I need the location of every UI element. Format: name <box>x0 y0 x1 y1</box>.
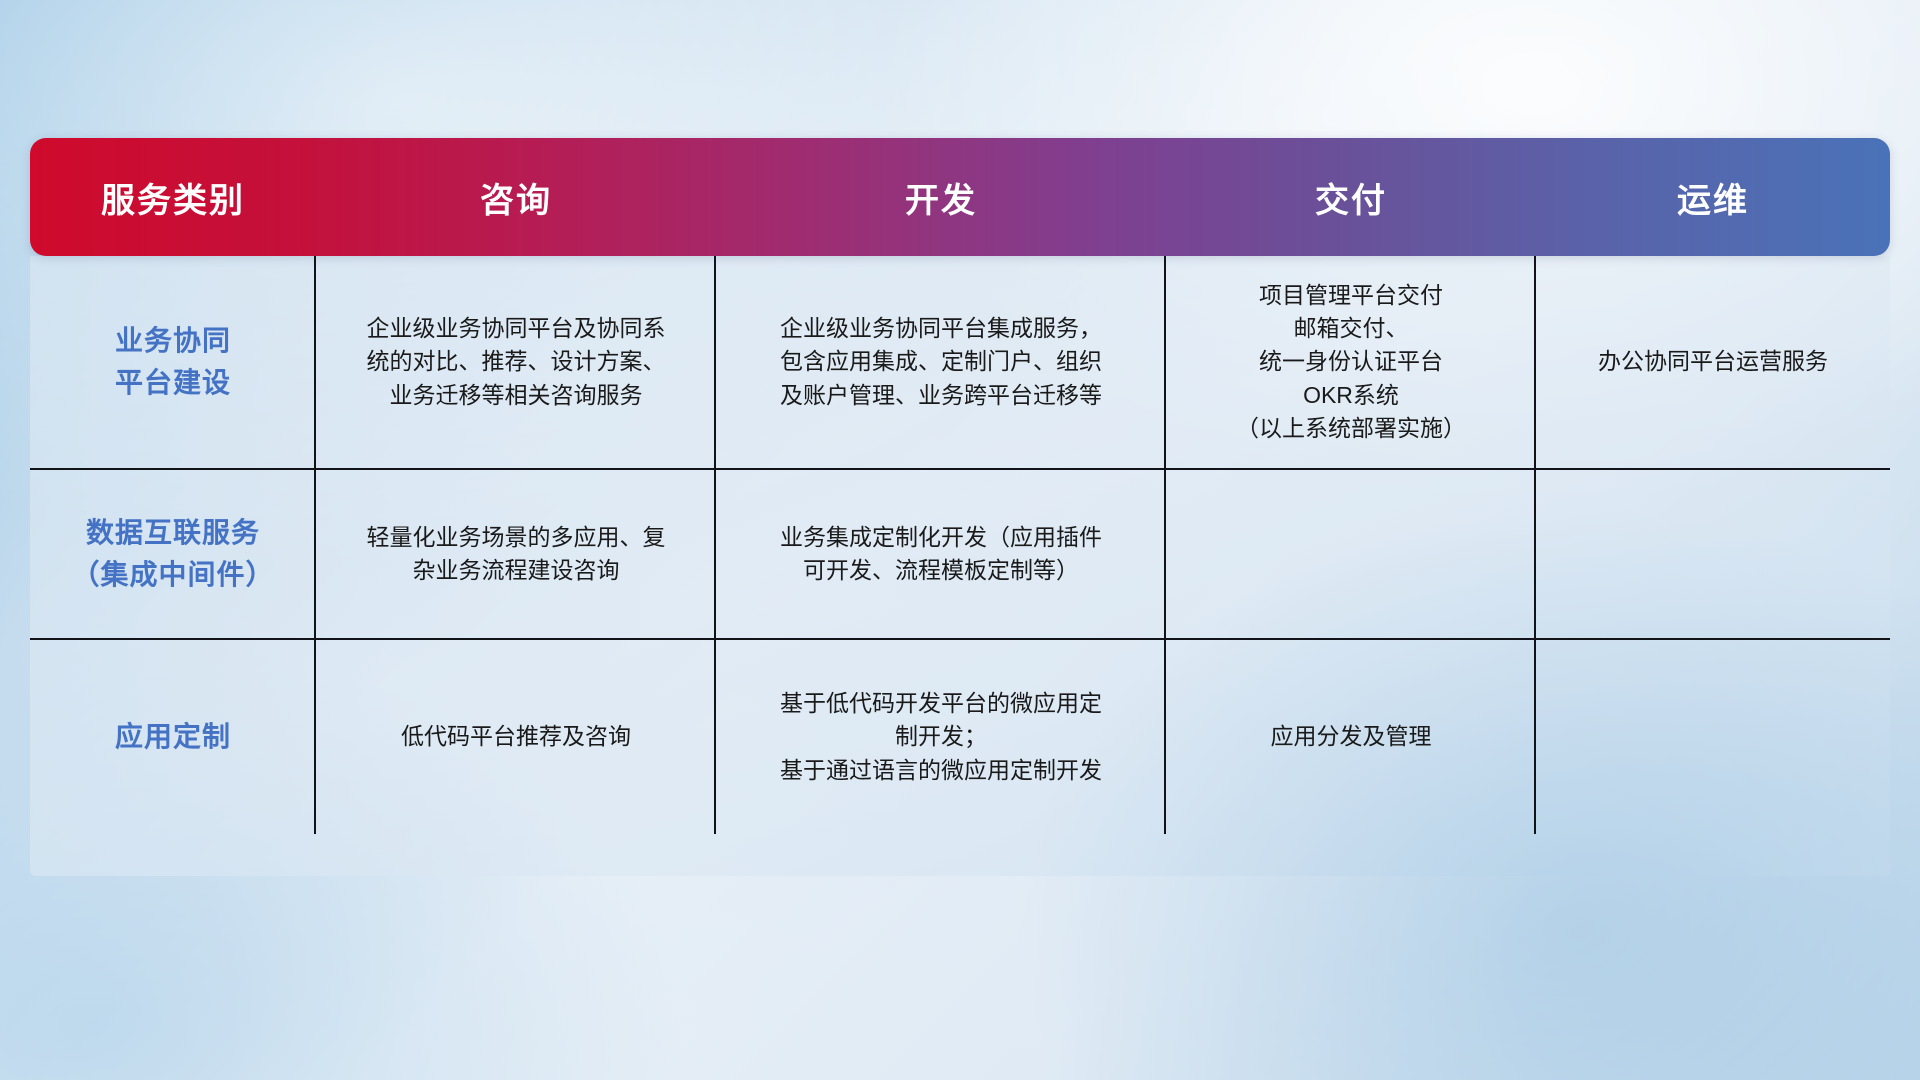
cell-operations: 办公协同平台运营服务 <box>1536 256 1890 468</box>
table-row: 应用定制 低代码平台推荐及咨询 基于低代码开发平台的微应用定 制开发； 基于通过… <box>30 638 1890 834</box>
table-body: 业务协同 平台建设 企业级业务协同平台及协同系 统的对比、推荐、设计方案、 业务… <box>30 256 1890 834</box>
cell-operations <box>1536 468 1890 638</box>
cell-delivery: 项目管理平台交付 邮箱交付、 统一身份认证平台 OKR系统 （以上系统部署实施） <box>1166 256 1536 468</box>
column-header-operations: 运维 <box>1536 138 1890 256</box>
service-matrix-table-wrapper: 服务类别 咨询 开发 交付 运维 业务协同 平台建设 企业级业务协同平台及协同系… <box>30 138 1890 834</box>
cell-consulting: 低代码平台推荐及咨询 <box>316 638 716 834</box>
cell-delivery: 应用分发及管理 <box>1166 638 1536 834</box>
cell-development: 基于低代码开发平台的微应用定 制开发； 基于通过语言的微应用定制开发 <box>716 638 1166 834</box>
row-category-label: 业务协同 平台建设 <box>30 256 316 468</box>
column-header-delivery: 交付 <box>1166 138 1536 256</box>
row-category-label: 数据互联服务 （集成中间件） <box>30 468 316 638</box>
cell-development: 企业级业务协同平台集成服务， 包含应用集成、定制门户、组织 及账户管理、业务跨平… <box>716 256 1166 468</box>
table-head: 服务类别 咨询 开发 交付 运维 <box>30 138 1890 256</box>
column-header-development: 开发 <box>716 138 1166 256</box>
row-category-label: 应用定制 <box>30 638 316 834</box>
header-row: 服务类别 咨询 开发 交付 运维 <box>30 138 1890 256</box>
table-row: 业务协同 平台建设 企业级业务协同平台及协同系 统的对比、推荐、设计方案、 业务… <box>30 256 1890 468</box>
column-header-category: 服务类别 <box>30 138 316 256</box>
cell-consulting: 轻量化业务场景的多应用、复 杂业务流程建设咨询 <box>316 468 716 638</box>
service-matrix-table: 服务类别 咨询 开发 交付 运维 业务协同 平台建设 企业级业务协同平台及协同系… <box>30 138 1890 834</box>
cell-delivery <box>1166 468 1536 638</box>
table-row: 数据互联服务 （集成中间件） 轻量化业务场景的多应用、复 杂业务流程建设咨询 业… <box>30 468 1890 638</box>
column-header-consulting: 咨询 <box>316 138 716 256</box>
cell-operations <box>1536 638 1890 834</box>
cell-development: 业务集成定制化开发（应用插件 可开发、流程模板定制等） <box>716 468 1166 638</box>
slide-canvas: 服务类别 咨询 开发 交付 运维 业务协同 平台建设 企业级业务协同平台及协同系… <box>0 0 1920 1080</box>
cell-consulting: 企业级业务协同平台及协同系 统的对比、推荐、设计方案、 业务迁移等相关咨询服务 <box>316 256 716 468</box>
